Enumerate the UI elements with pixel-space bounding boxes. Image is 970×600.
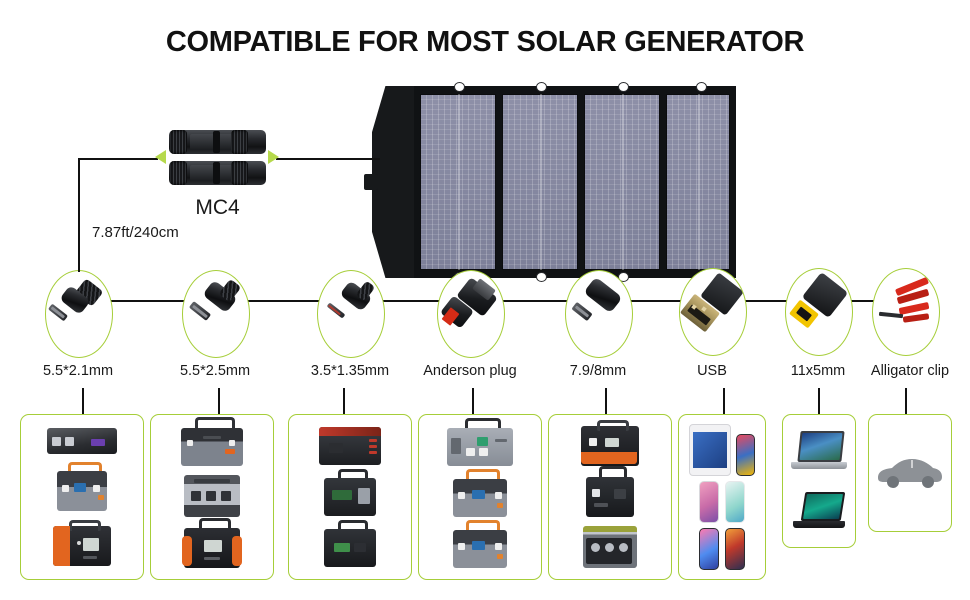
solar-panel-segment xyxy=(584,94,660,270)
mc4-connector xyxy=(169,130,266,154)
cable-corner-to-mc4 xyxy=(78,158,158,160)
cable-mc4-to-panel xyxy=(276,158,380,160)
mc4-grip-ring xyxy=(231,130,248,154)
panel-grommet-icon xyxy=(454,82,465,92)
box-stem xyxy=(605,388,607,414)
device-power-station xyxy=(184,475,240,517)
solar-panel-frame xyxy=(414,86,736,278)
connector-anderson[interactable] xyxy=(437,270,505,358)
chain-wire xyxy=(744,300,789,302)
panel-grommet-icon xyxy=(618,82,629,92)
solar-panel-case xyxy=(372,86,420,278)
connector-label-lenovo-11x5: 11x5mm xyxy=(768,363,868,379)
device-power-station xyxy=(57,469,107,511)
connector-dc-5525[interactable] xyxy=(182,270,250,358)
chain-wire xyxy=(381,300,439,302)
device-phone xyxy=(699,481,719,523)
connector-dc-35135[interactable] xyxy=(317,270,385,358)
panel-grommet-icon xyxy=(536,82,547,92)
power-station-group-1 xyxy=(20,414,144,580)
device-power-station xyxy=(453,477,507,517)
power-station-group-2 xyxy=(150,414,274,580)
vehicle-group xyxy=(868,414,952,532)
connector-lenovo-11x5[interactable] xyxy=(785,268,853,356)
connector-label-dc-35135: 3.5*1.35mm xyxy=(290,363,410,379)
mc4-joint xyxy=(213,131,220,153)
panel-grommet-icon xyxy=(536,272,547,282)
connector-dc-798[interactable] xyxy=(565,270,633,358)
connector-usb[interactable] xyxy=(679,268,747,356)
mc4-arrow-left-icon xyxy=(155,150,166,164)
device-phone xyxy=(725,528,745,570)
car-silhouette-icon xyxy=(876,456,944,490)
mc4-grip-ring xyxy=(170,130,187,154)
solar-panel xyxy=(372,86,736,278)
box-stem xyxy=(218,388,220,414)
device-power-station xyxy=(181,426,243,466)
device-power-station xyxy=(324,527,376,567)
mc4-joint xyxy=(213,162,220,184)
connector-top-stem xyxy=(78,258,80,272)
device-phone xyxy=(725,481,745,523)
mc4-arrow-right-icon xyxy=(268,150,279,164)
connector-label-anderson: Anderson plug xyxy=(410,363,530,379)
mc4-body xyxy=(190,134,234,150)
solar-panel-segment xyxy=(420,94,496,270)
device-power-station xyxy=(319,427,381,465)
device-power-station xyxy=(586,475,634,517)
device-power-station xyxy=(184,526,240,568)
device-power-station xyxy=(324,476,376,516)
page-title: COMPATIBLE FOR MOST SOLAR GENERATOR xyxy=(0,26,970,59)
box-stem xyxy=(82,388,84,414)
infographic-canvas: COMPATIBLE FOR MOST SOLAR GENERATOR xyxy=(0,0,970,600)
solar-panel-segment xyxy=(666,94,730,270)
device-power-station xyxy=(581,426,639,466)
connector-label-alligator: Alligator clip xyxy=(858,363,962,379)
device-tablet xyxy=(689,424,731,476)
device-power-station xyxy=(583,526,637,568)
box-stem xyxy=(343,388,345,414)
panel-grommet-icon xyxy=(696,82,707,92)
connector-alligator[interactable] xyxy=(872,268,940,356)
device-power-station xyxy=(453,528,507,568)
connector-label-dc-5521: 5.5*2.1mm xyxy=(18,363,138,379)
device-laptop xyxy=(793,492,845,532)
chain-wire xyxy=(247,300,319,302)
device-power-station xyxy=(447,426,513,466)
box-stem xyxy=(818,388,820,414)
chain-wire xyxy=(629,300,682,302)
solar-panel-segment xyxy=(502,94,578,270)
mc4-body xyxy=(190,165,234,181)
cable-length-label: 7.87ft/240cm xyxy=(92,224,179,241)
box-stem xyxy=(905,388,907,414)
device-power-station xyxy=(53,526,111,566)
mc4-connector-pair xyxy=(155,128,280,190)
power-station-group-5 xyxy=(548,414,672,580)
connector-label-dc-5525: 5.5*2.5mm xyxy=(155,363,275,379)
box-stem xyxy=(472,388,474,414)
device-inverter xyxy=(47,428,117,454)
device-phone xyxy=(736,434,755,476)
mc4-label: MC4 xyxy=(155,196,280,220)
chain-wire xyxy=(110,300,185,302)
device-laptop xyxy=(791,431,847,473)
power-station-group-3 xyxy=(288,414,412,580)
power-station-group-4 xyxy=(418,414,542,580)
connector-label-dc-798: 7.9/8mm xyxy=(538,363,658,379)
solar-panel-cable-tab xyxy=(364,174,378,190)
device-phone xyxy=(699,528,719,570)
mc4-grip-ring xyxy=(170,161,187,185)
connector-label-usb: USB xyxy=(652,363,772,379)
mc4-grip-ring xyxy=(231,161,248,185)
car-icon xyxy=(876,456,944,490)
tablet-phone-group xyxy=(678,414,766,580)
connector-dc-5521[interactable] xyxy=(45,270,113,358)
mc4-connector xyxy=(169,161,266,185)
box-stem xyxy=(723,388,725,414)
chain-wire xyxy=(501,300,567,302)
laptop-group xyxy=(782,414,856,548)
